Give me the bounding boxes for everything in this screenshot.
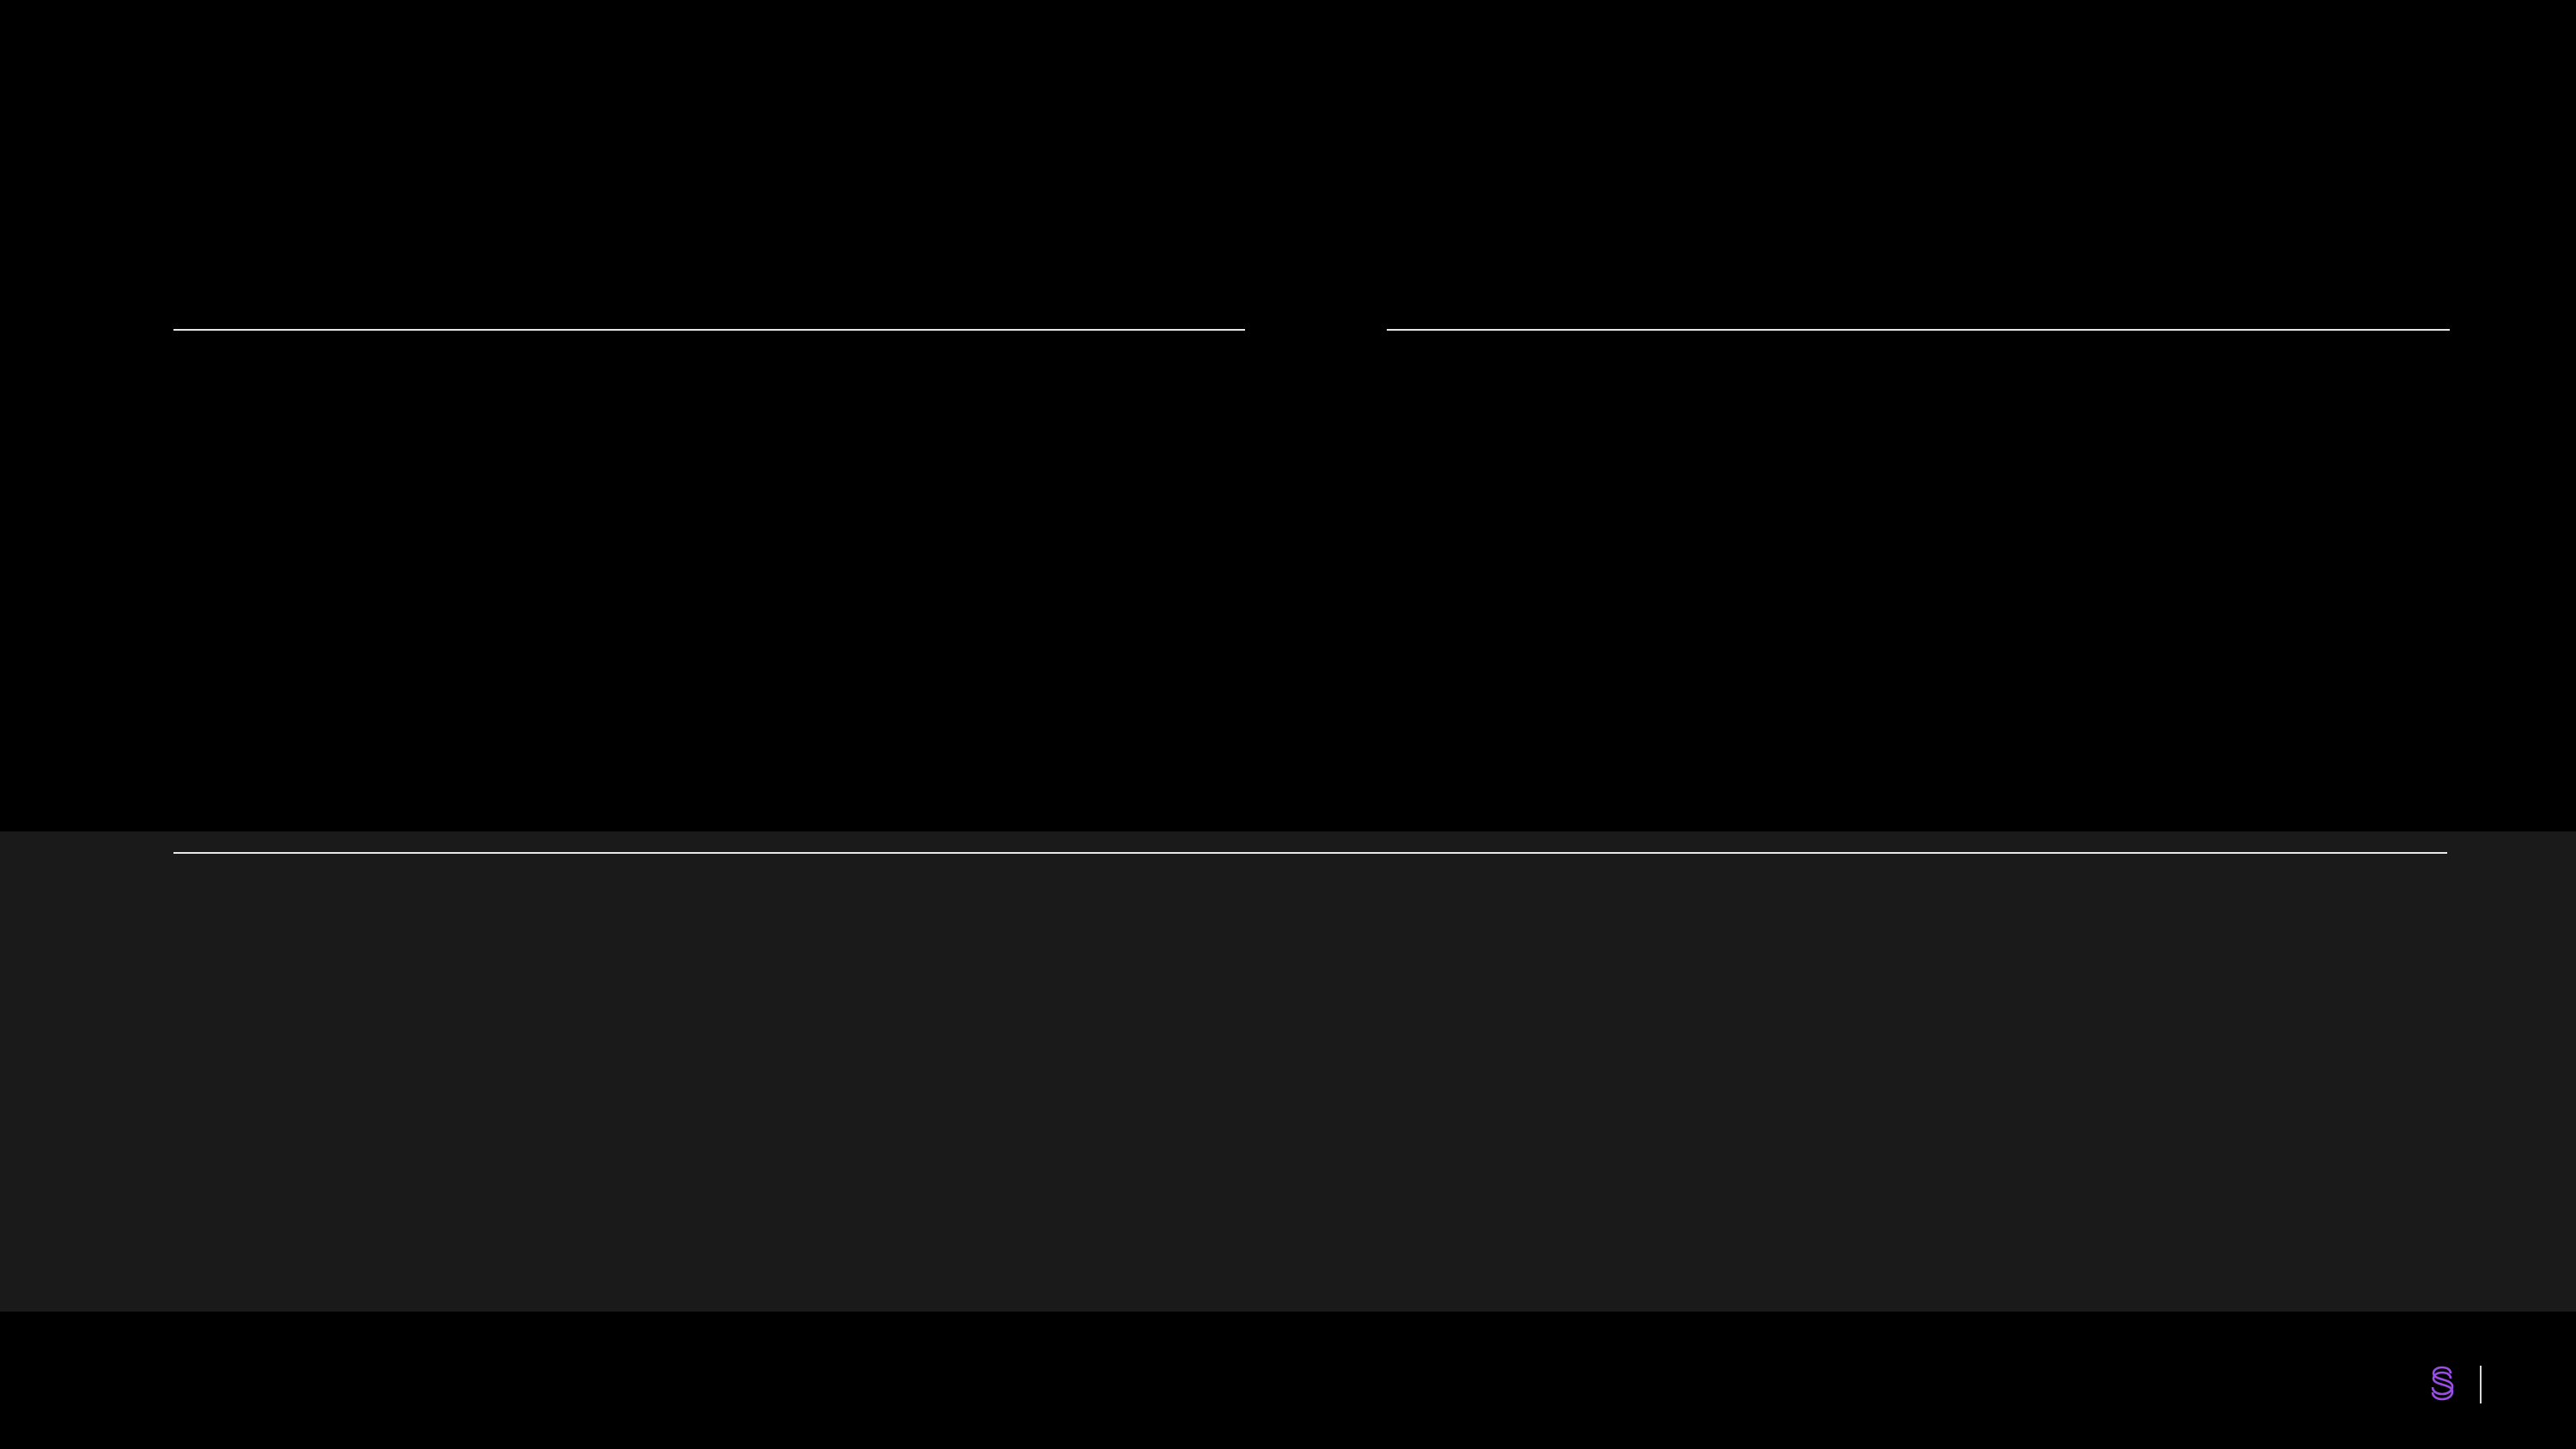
page-footer-badge xyxy=(2428,1366,2504,1403)
slide-root xyxy=(0,0,2576,1449)
sight-sciences-s-logo-icon xyxy=(2428,1366,2458,1403)
section-header-standalone xyxy=(1334,329,2450,331)
footer-background-band xyxy=(0,1312,2576,1449)
section-rule xyxy=(173,852,2447,854)
mid-background-band xyxy=(0,831,2576,1312)
footer-divider xyxy=(2480,1366,2482,1403)
section-rule xyxy=(1387,329,2450,331)
section-header-combination-cataract xyxy=(120,329,1245,331)
section-rule xyxy=(173,329,1245,331)
section-header-efficacy-3-years xyxy=(120,852,2447,854)
